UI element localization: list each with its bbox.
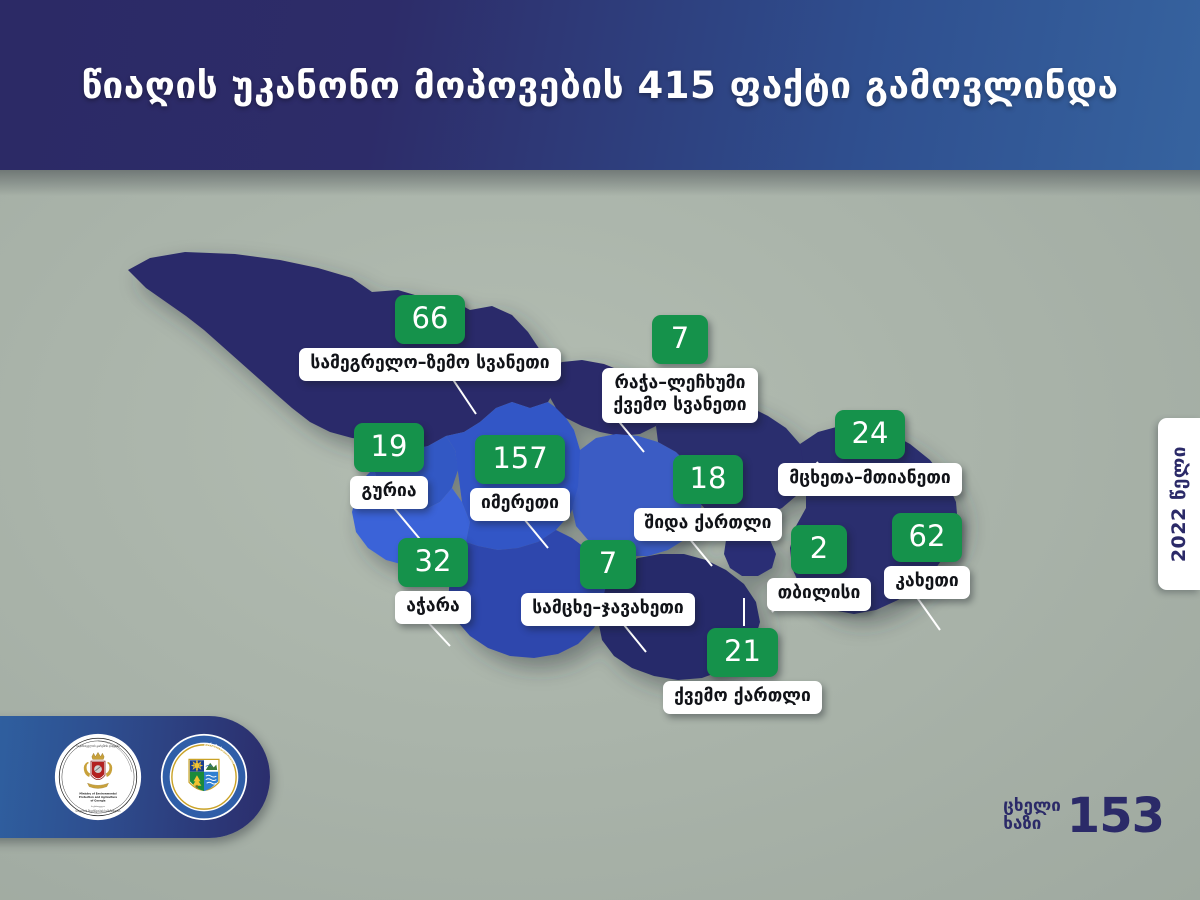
marker-mtskheta-mtianeti[interactable]: 24 მცხეთა–მთიანეთი xyxy=(770,410,970,496)
marker-samtskhe-javakheti[interactable]: 7 სამცხე–ჯავახეთი xyxy=(518,540,698,626)
marker-tbilisi[interactable]: 2 თბილისი xyxy=(763,525,875,611)
logo-bar: საქართველოს გარემოს დაცვისა სოფლის მეურნ… xyxy=(0,716,270,838)
marker-racha-lechkhumi[interactable]: 7 რაჭა–ლეჩხუმი ქვემო სვანეთი xyxy=(600,315,760,423)
value-badge-imereti: 157 xyxy=(475,435,564,484)
marker-imereti[interactable]: 157 იმერეთი xyxy=(465,435,575,521)
value-badge-guria: 19 xyxy=(354,423,425,472)
marker-kakheti[interactable]: 62 კახეთი xyxy=(877,513,977,599)
value-badge-mtskheta-mtianeti: 24 xyxy=(835,410,906,459)
value-badge-racha-lechkhumi: 7 xyxy=(652,315,708,364)
year-tab-label: 2022 წელი xyxy=(1168,446,1190,562)
hotline-number: 153 xyxy=(1067,794,1164,838)
marker-kvemo-kartli[interactable]: 21 ქვემო ქართლი xyxy=(660,628,825,714)
region-label-guria: გურია xyxy=(350,476,427,509)
value-badge-samegrelo-zemo-svaneti: 66 xyxy=(395,295,466,344)
svg-text:სოფლის მეურნეობის სამინისტრო: სოფლის მეურნეობის სამინისტრო xyxy=(76,809,121,813)
georgia-map xyxy=(0,150,1200,750)
region-label-imereti: იმერეთი xyxy=(470,488,570,521)
supervision-seal-icon: გარემოსდაცვითი ზედამხედველობის დეპარტამე… xyxy=(160,733,248,821)
hotline: ცხელი ხაზი 153 xyxy=(1003,794,1164,838)
svg-text:of Georgia: of Georgia xyxy=(91,799,106,803)
region-label-samegrelo-zemo-svaneti: სამეგრელო–ზემო სვანეთი xyxy=(299,348,560,381)
svg-text:საქართველო: საქართველო xyxy=(91,805,105,808)
region-label-racha-lechkhumi: რაჭა–ლეჩხუმი ქვემო სვანეთი xyxy=(602,368,757,423)
year-tab: 2022 წელი xyxy=(1158,418,1200,590)
hotline-line2: ხაზი xyxy=(1003,816,1061,834)
region-label-adjara: აჭარა xyxy=(395,591,470,624)
svg-text:Ministry of Environmental: Ministry of Environmental xyxy=(79,792,116,796)
region-label-shida-kartli: შიდა ქართლი xyxy=(634,508,783,541)
region-label-tbilisi: თბილისი xyxy=(767,578,872,611)
value-badge-samtskhe-javakheti: 7 xyxy=(580,540,636,589)
ministry-seal-icon: საქართველოს გარემოს დაცვისა სოფლის მეურნ… xyxy=(54,733,142,821)
value-badge-shida-kartli: 18 xyxy=(673,455,744,504)
header-banner: წიაღის უკანონო მოპოვების 415 ფაქტი გამოვ… xyxy=(0,0,1200,170)
svg-text:Protection and Agriculture: Protection and Agriculture xyxy=(79,795,118,799)
marker-guria[interactable]: 19 გურია xyxy=(330,423,448,509)
marker-shida-kartli[interactable]: 18 შიდა ქართლი xyxy=(643,455,773,541)
infographic-poster: წიაღის უკანონო მოპოვების 415 ფაქტი გამოვ… xyxy=(0,0,1200,900)
region-label-samtskhe-javakheti: სამცხე–ჯავახეთი xyxy=(521,593,695,626)
value-badge-tbilisi: 2 xyxy=(791,525,847,574)
page-title: წიაღის უკანონო მოპოვების 415 ფაქტი გამოვ… xyxy=(81,64,1118,107)
value-badge-adjara: 32 xyxy=(398,538,469,587)
marker-samegrelo-zemo-svaneti[interactable]: 66 სამეგრელო–ზემო სვანეთი xyxy=(305,295,555,381)
value-badge-kvemo-kartli: 21 xyxy=(707,628,778,677)
hotline-words: ცხელი ხაზი xyxy=(1003,798,1061,834)
region-label-mtskheta-mtianeti: მცხეთა–მთიანეთი xyxy=(778,463,961,496)
region-label-kakheti: კახეთი xyxy=(884,566,969,599)
value-badge-kakheti: 62 xyxy=(892,513,963,562)
marker-adjara[interactable]: 32 აჭარა xyxy=(383,538,483,624)
svg-text:საქართველოს გარემოს დაცვისა: საქართველოს გარემოს დაცვისა xyxy=(76,744,120,748)
region-label-kvemo-kartli: ქვემო ქართლი xyxy=(663,681,822,714)
